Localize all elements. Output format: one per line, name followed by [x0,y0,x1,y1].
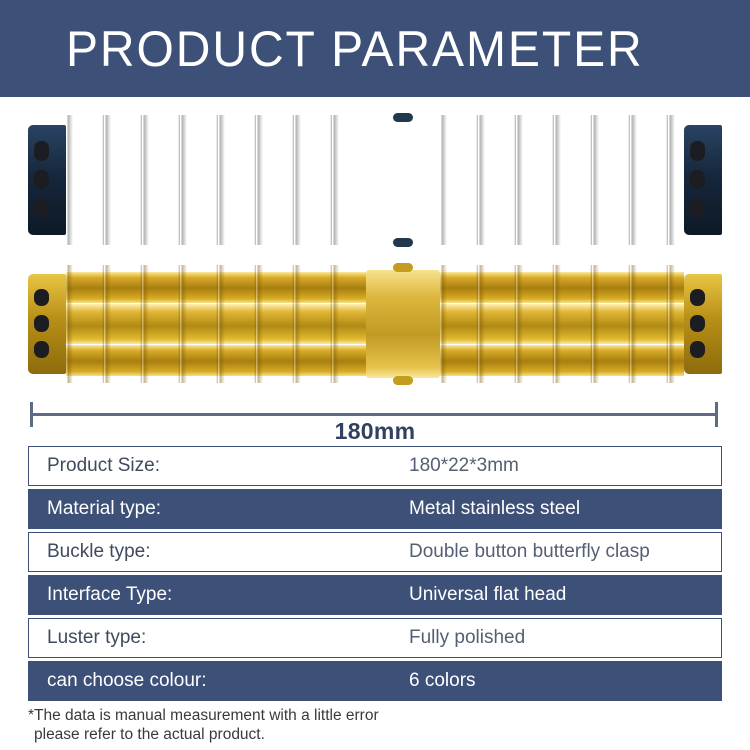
band-links-right [440,265,684,383]
spec-row-buckle-type: Buckle type: Double button butterfly cla… [28,532,722,572]
footnote-line-2: please refer to the actual product. [28,725,728,744]
footnote-line-1: *The data is manual measurement with a l… [28,706,728,725]
dimension-label: 180mm [0,418,750,445]
spec-label: can choose colour: [29,670,409,692]
band-lug-right [684,265,722,383]
spec-value: Universal flat head [409,584,566,606]
band-links-right [440,115,684,245]
product-parameter-page: PRODUCT PARAMETER [0,0,750,750]
page-header: PRODUCT PARAMETER [0,0,750,97]
blue-watch-band-image [28,115,722,245]
dimension-indicator: 180mm [0,398,750,446]
spec-label: Product Size: [29,455,409,477]
spec-value: 180*22*3mm [409,455,519,477]
spec-row-interface-type: Interface Type: Universal flat head [28,575,722,615]
spec-value: Double button butterfly clasp [409,541,650,563]
gold-watch-band-image [28,265,722,383]
band-links-left [66,115,366,245]
spec-table: Product Size: 180*22*3mm Material type: … [28,446,722,704]
spec-value: 6 colors [409,670,476,692]
dimension-line [30,413,718,416]
spec-label: Luster type: [29,627,409,649]
butterfly-clasp [366,265,440,383]
spec-row-product-size: Product Size: 180*22*3mm [28,446,722,486]
spec-label: Material type: [29,498,409,520]
spec-label: Interface Type: [29,584,409,606]
spec-row-can-choose-colour: can choose colour: 6 colors [28,661,722,701]
butterfly-clasp [366,115,440,245]
spec-label: Buckle type: [29,541,409,563]
band-lug-left [28,265,66,383]
spec-value: Fully polished [409,627,525,649]
product-gallery [0,97,750,397]
spec-row-luster-type: Luster type: Fully polished [28,618,722,658]
band-links-left [66,265,366,383]
footnote: *The data is manual measurement with a l… [28,706,728,744]
band-lug-right [684,115,722,245]
page-title: PRODUCT PARAMETER [66,22,644,76]
spec-row-material-type: Material type: Metal stainless steel [28,489,722,529]
band-lug-left [28,115,66,245]
spec-value: Metal stainless steel [409,498,580,520]
